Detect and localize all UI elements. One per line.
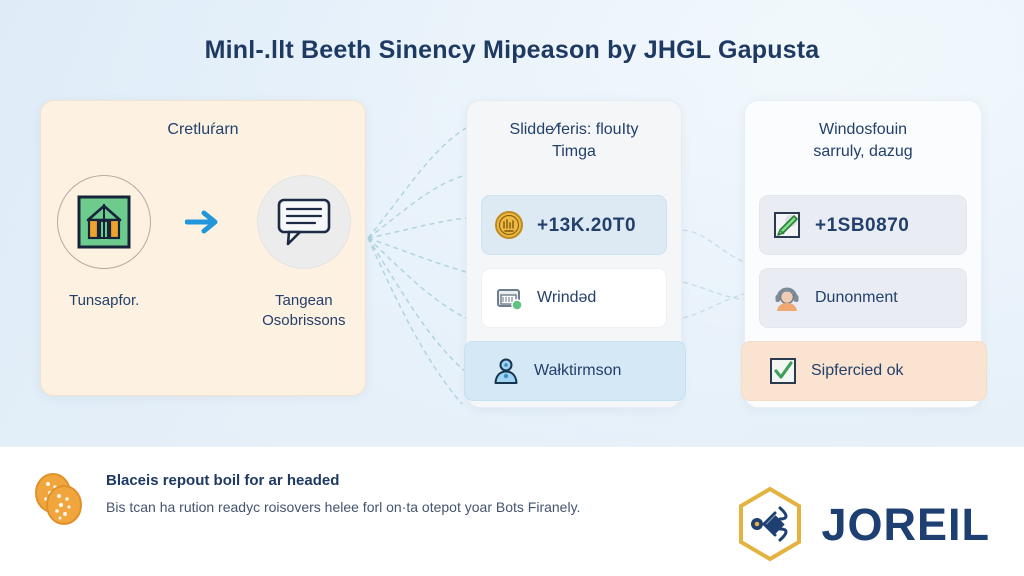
footer-bar: Blaceis repout boil for ar headed Bis tc… (0, 446, 1024, 576)
footer-note: Blaceis repout boil for ar headed Bis tc… (28, 469, 580, 531)
list-item[interactable]: Wrindəd (481, 268, 667, 328)
diagram-canvas: Minl-.llt Beeth Sinency Mipeason by JHGL… (0, 0, 1024, 576)
panel-middle-rows: +13K.20T0 Wrindəd (467, 195, 681, 414)
person-icon (491, 356, 521, 386)
panel-workflow-heading: Cretluŕarn (41, 101, 365, 141)
list-item-selected[interactable]: Wałktirmson (464, 341, 686, 401)
workflow-step-1[interactable]: Tunsapfor. (41, 175, 167, 311)
panel-right: Windosfouin sarruly, dazug +1SB0870 (744, 100, 982, 408)
list-item-label: Dunonment (815, 290, 898, 306)
arrow-right-icon (181, 175, 226, 269)
house-building-icon (76, 194, 132, 250)
footer-heading: Blaceis repout boil for ar headed (106, 472, 580, 489)
workflow-step-1-label: Tunsapfor. (41, 291, 167, 311)
panel-middle-heading-line1: Slidde⁄feris: flouIty (481, 119, 667, 141)
pencil-icon (772, 210, 802, 240)
coins-stack-icon (28, 469, 90, 531)
list-item-selected[interactable]: Sipfercied ok (741, 341, 987, 401)
brand-logo: JOREIL (733, 485, 990, 563)
list-item[interactable]: +1SB0870 (759, 195, 967, 255)
arrow-right-glyph (185, 208, 223, 236)
panel-right-heading-line2: sarruly, dazug (759, 141, 967, 163)
list-item[interactable]: Dunonment (759, 268, 967, 328)
panel-right-heading-line1: Windosfouin (759, 119, 967, 141)
headset-person-icon (772, 283, 802, 313)
list-item-label: +13K.20T0 (537, 216, 636, 235)
chat-bubble-icon-circle (257, 175, 351, 269)
list-item-label: Wałktirmson (534, 363, 621, 379)
chat-bubble-icon (275, 196, 333, 248)
list-item-label: +1SB0870 (815, 216, 909, 235)
panel-workflow: Cretluŕarn Tunsapfor. (40, 100, 366, 396)
panel-middle-heading: Slidde⁄feris: flouIty Timga (467, 101, 681, 162)
list-item-label: Sipfercied ok (811, 363, 904, 379)
brand-name: JOREIL (821, 502, 990, 547)
panel-right-rows: +1SB0870 Dunonment Sipfercied (745, 195, 981, 414)
workflow-step-2[interactable]: Tangean Osobrissons (241, 175, 367, 332)
panel-right-heading: Windosfouin sarruly, dazug (745, 101, 981, 162)
house-building-icon-circle (57, 175, 151, 269)
panel-middle-heading-line2: Timga (481, 141, 667, 163)
list-item[interactable]: +13K.20T0 (481, 195, 667, 255)
receipt-icon (494, 283, 524, 313)
hexagon-node-logo (733, 485, 807, 563)
list-item-label: Wrindəd (537, 290, 596, 306)
workflow-step-2-label: Tangean Osobrissons (241, 291, 367, 332)
panel-middle: Slidde⁄feris: flouIty Timga +13K.20T0 (466, 100, 682, 408)
footer-subtext: Bis tcan ha rution readyc roisovers hele… (106, 499, 580, 515)
workflow-steps: Tunsapfor. (41, 175, 367, 332)
check-square-icon (768, 356, 798, 386)
coin-icon (494, 210, 524, 240)
